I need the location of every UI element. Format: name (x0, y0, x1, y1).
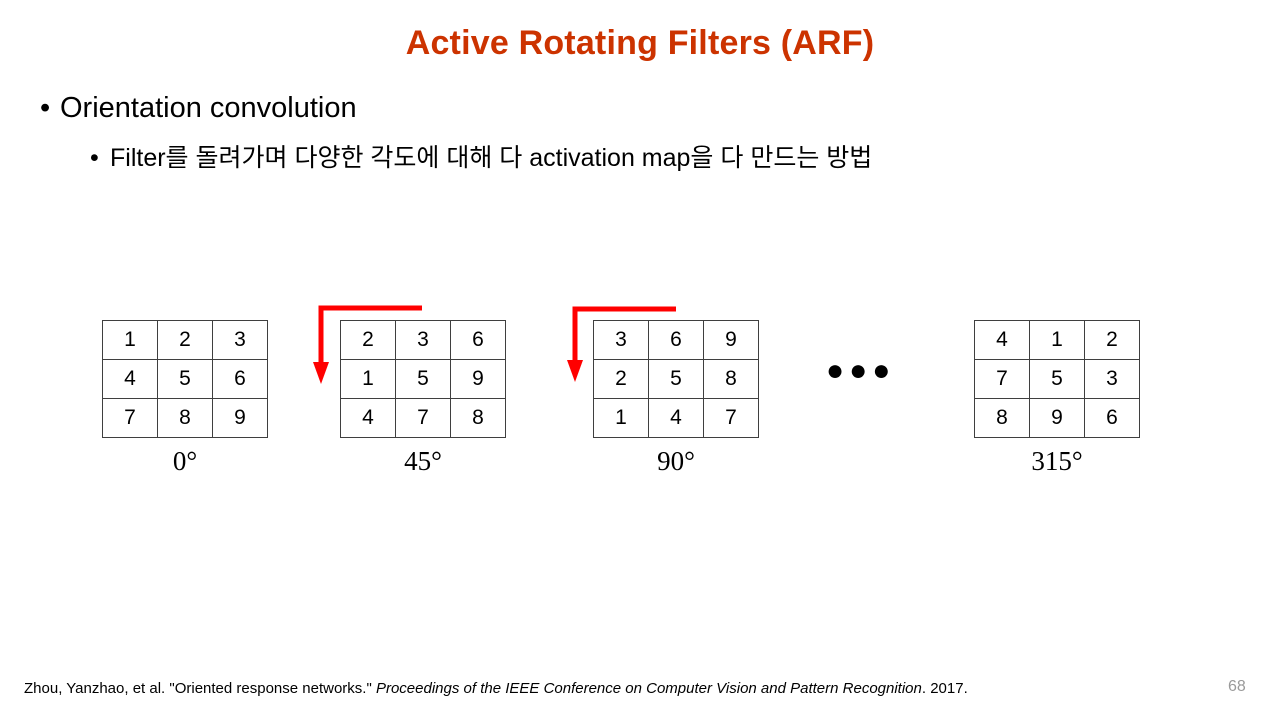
page-number: 68 (1228, 678, 1246, 696)
bullet-level-2: •Filter를 돌려가며 다양한 각도에 대해 다 activation ma… (90, 138, 872, 174)
filter-grid-315deg: 4 1 2 7 5 3 8 9 6 315° (974, 320, 1140, 477)
table-row: 1 5 9 (341, 360, 506, 399)
ellipsis-indicator: ●●● (826, 356, 895, 386)
matrix-cell: 3 (1085, 360, 1140, 399)
matrix-cell: 1 (103, 321, 158, 360)
matrix-cell: 8 (451, 399, 506, 438)
matrix-cell: 2 (1085, 321, 1140, 360)
matrix-cell: 2 (341, 321, 396, 360)
table-row: 4 7 8 (341, 399, 506, 438)
matrix-cell: 3 (213, 321, 268, 360)
matrix-cell: 2 (158, 321, 213, 360)
matrix-cell: 7 (975, 360, 1030, 399)
matrix-cell: 9 (704, 321, 759, 360)
angle-label-315deg: 315° (974, 446, 1140, 477)
matrix-cell: 6 (451, 321, 506, 360)
matrix-cell: 3 (396, 321, 451, 360)
matrix-cell: 4 (975, 321, 1030, 360)
table-row: 4 1 2 (975, 321, 1140, 360)
matrix-cell: 5 (649, 360, 704, 399)
bullet-level-2-text: Filter를 돌려가며 다양한 각도에 대해 다 activation map… (110, 144, 872, 172)
matrix-cell: 4 (103, 360, 158, 399)
citation-text: Zhou, Yanzhao, et al. "Oriented response… (24, 680, 968, 697)
bullet-marker-icon: • (90, 144, 110, 173)
table-row: 3 6 9 (594, 321, 759, 360)
matrix-cell: 1 (1030, 321, 1085, 360)
matrix-cell: 9 (1030, 399, 1085, 438)
matrix-cell: 8 (975, 399, 1030, 438)
bullet-marker-icon: • (40, 92, 60, 125)
filter-matrix: 2 3 6 1 5 9 4 7 8 (340, 320, 506, 438)
matrix-cell: 6 (649, 321, 704, 360)
angle-label-90deg: 90° (593, 446, 759, 477)
matrix-cell: 1 (594, 399, 649, 438)
filter-grid-45deg: 2 3 6 1 5 9 4 7 8 45° (340, 320, 506, 477)
matrix-cell: 5 (1030, 360, 1085, 399)
matrix-cell: 8 (704, 360, 759, 399)
table-row: 8 9 6 (975, 399, 1140, 438)
bullet-level-1-text: Orientation convolution (60, 92, 357, 124)
citation-venue: Proceedings of the IEEE Conference on Co… (376, 680, 922, 697)
matrix-cell: 6 (213, 360, 268, 399)
table-row: 1 4 7 (594, 399, 759, 438)
matrix-cell: 2 (594, 360, 649, 399)
citation-part-1: Zhou, Yanzhao, et al. "Oriented response… (24, 680, 376, 697)
matrix-cell: 9 (213, 399, 268, 438)
angle-label-45deg: 45° (340, 446, 506, 477)
bullet-level-1: •Orientation convolution (40, 92, 357, 125)
slide-canvas: Active Rotating Filters (ARF) •Orientati… (0, 0, 1280, 720)
filter-matrix: 3 6 9 2 5 8 1 4 7 (593, 320, 759, 438)
matrix-cell: 5 (396, 360, 451, 399)
page-title: Active Rotating Filters (ARF) (0, 24, 1280, 63)
filter-grid-0deg: 1 2 3 4 5 6 7 8 9 0° (102, 320, 268, 477)
filter-matrix: 4 1 2 7 5 3 8 9 6 (974, 320, 1140, 438)
table-row: 4 5 6 (103, 360, 268, 399)
filter-matrix: 1 2 3 4 5 6 7 8 9 (102, 320, 268, 438)
matrix-cell: 7 (704, 399, 759, 438)
matrix-cell: 9 (451, 360, 506, 399)
table-row: 1 2 3 (103, 321, 268, 360)
angle-label-0deg: 0° (102, 446, 268, 477)
matrix-cell: 6 (1085, 399, 1140, 438)
matrix-cell: 1 (341, 360, 396, 399)
matrix-cell: 8 (158, 399, 213, 438)
matrix-cell: 3 (594, 321, 649, 360)
filter-grid-90deg: 3 6 9 2 5 8 1 4 7 90° (593, 320, 759, 477)
matrix-cell: 7 (396, 399, 451, 438)
matrix-cell: 4 (341, 399, 396, 438)
matrix-cell: 4 (649, 399, 704, 438)
matrix-cell: 5 (158, 360, 213, 399)
matrix-cell: 7 (103, 399, 158, 438)
table-row: 7 5 3 (975, 360, 1140, 399)
table-row: 2 3 6 (341, 321, 506, 360)
table-row: 7 8 9 (103, 399, 268, 438)
citation-part-2: . 2017. (922, 680, 968, 697)
table-row: 2 5 8 (594, 360, 759, 399)
